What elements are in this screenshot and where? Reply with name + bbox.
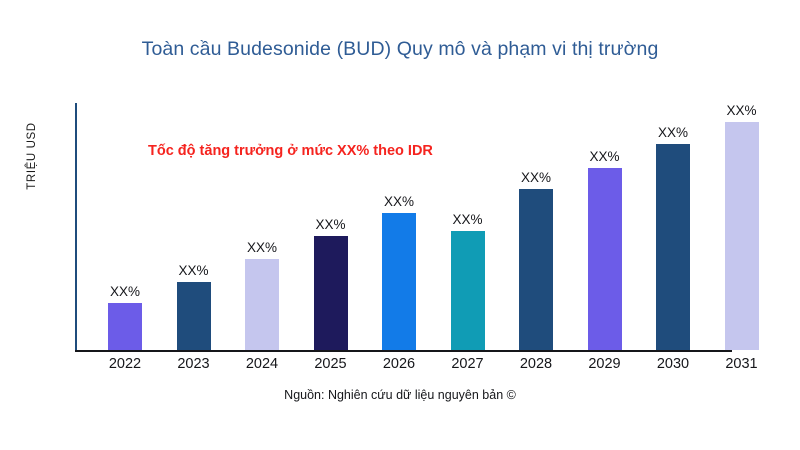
x-tick-2024: 2024 xyxy=(228,356,296,372)
bar-2031[interactable] xyxy=(725,122,759,350)
bar-group[interactable]: XX% xyxy=(639,126,707,351)
bar-value-label: XX% xyxy=(247,241,277,255)
bar-2025[interactable] xyxy=(314,236,348,350)
bar-group[interactable]: XX% xyxy=(365,195,433,351)
x-tick-2025: 2025 xyxy=(297,356,365,372)
x-tick-2027: 2027 xyxy=(434,356,502,372)
bar-value-label: XX% xyxy=(658,126,688,140)
bar-2028[interactable] xyxy=(519,189,553,350)
bar-2023[interactable] xyxy=(177,282,211,350)
bar-group[interactable]: XX% xyxy=(708,104,776,351)
chart-container: Toàn cầu Budesonide (BUD) Quy mô và phạm… xyxy=(0,0,800,450)
x-tick-2030: 2030 xyxy=(639,356,707,372)
bar-group[interactable]: XX% xyxy=(91,285,159,351)
x-tick-2026: 2026 xyxy=(365,356,433,372)
x-tick-2022: 2022 xyxy=(91,356,159,372)
bar-group[interactable]: XX% xyxy=(297,218,365,351)
bar-value-label: XX% xyxy=(110,285,140,299)
bar-2026[interactable] xyxy=(382,213,416,350)
bar-2022[interactable] xyxy=(108,303,142,350)
bar-2024[interactable] xyxy=(245,259,279,350)
bar-value-label: XX% xyxy=(452,213,482,227)
bar-2027[interactable] xyxy=(451,231,485,350)
bar-value-label: XX% xyxy=(589,150,619,164)
source-note: Nguồn: Nghiên cứu dữ liệu nguyên bản © xyxy=(0,388,800,402)
x-tick-2028: 2028 xyxy=(502,356,570,372)
bar-2029[interactable] xyxy=(588,168,622,350)
bar-group[interactable]: XX% xyxy=(434,213,502,351)
bar-group[interactable]: XX% xyxy=(160,264,228,351)
x-tick-2029: 2029 xyxy=(571,356,639,372)
bar-group[interactable]: XX% xyxy=(228,241,296,351)
x-tick-2031: 2031 xyxy=(708,356,776,372)
bar-value-label: XX% xyxy=(726,104,756,118)
x-tick-2023: 2023 xyxy=(160,356,228,372)
plot-area: XX%2022XX%2023XX%2024XX%2025XX%2026XX%20… xyxy=(0,0,800,450)
bar-value-label: XX% xyxy=(521,171,551,185)
bar-group[interactable]: XX% xyxy=(502,171,570,351)
bar-value-label: XX% xyxy=(178,264,208,278)
bar-value-label: XX% xyxy=(315,218,345,232)
bar-value-label: XX% xyxy=(384,195,414,209)
bar-2030[interactable] xyxy=(656,144,690,350)
bar-group[interactable]: XX% xyxy=(571,150,639,351)
